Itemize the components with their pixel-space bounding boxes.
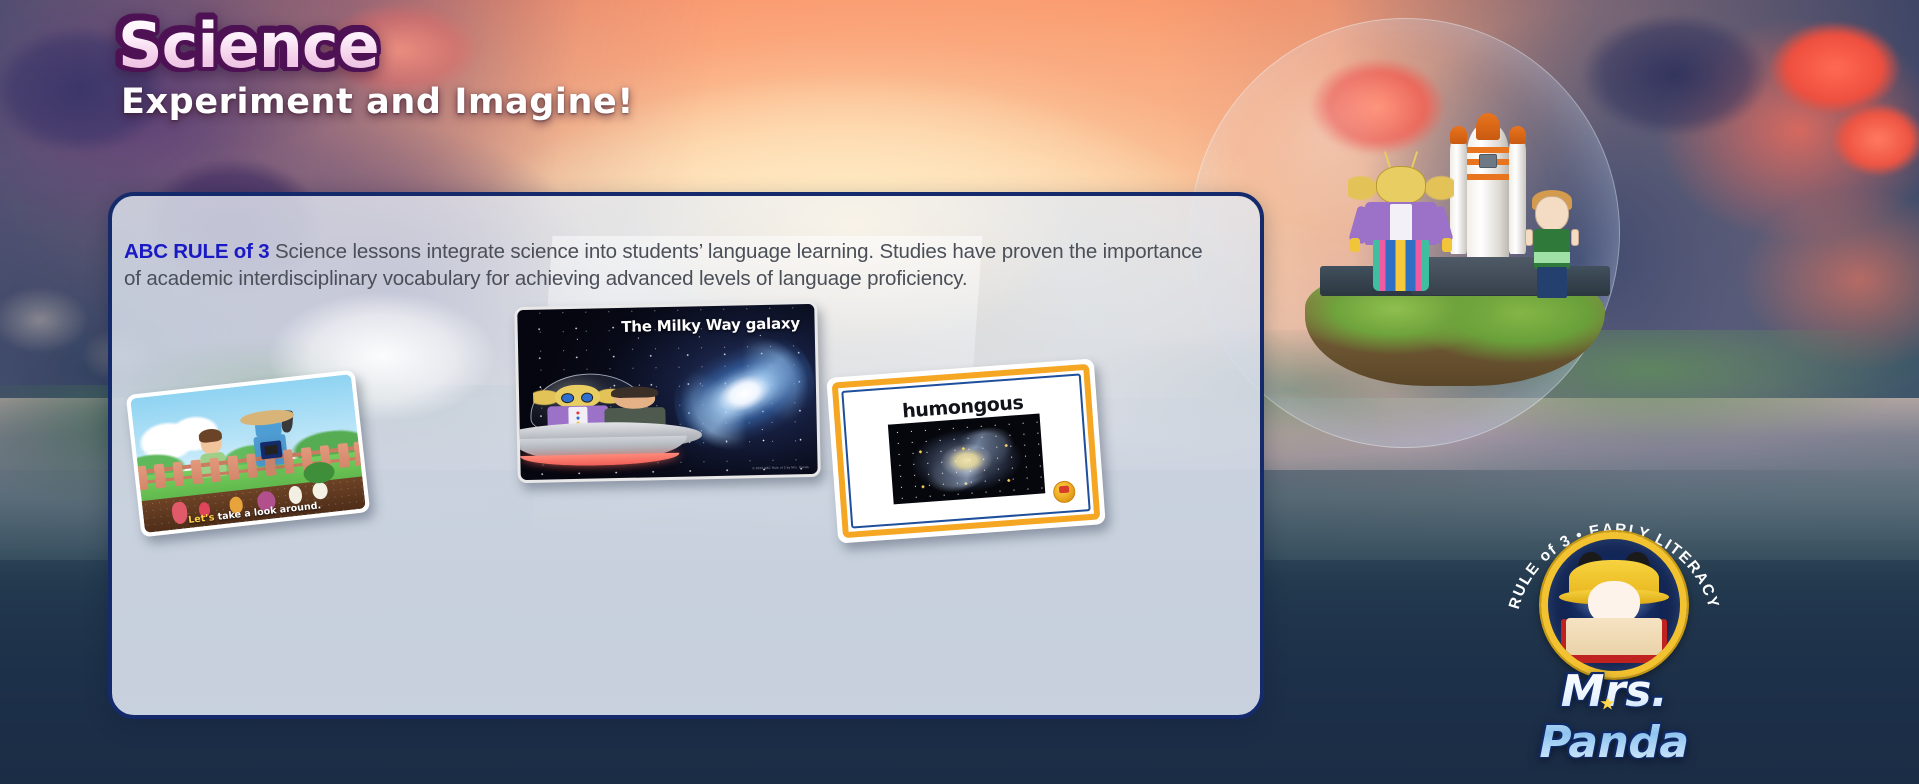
flying-saucer-icon [517,371,699,470]
card-gallery: Let’s take a look around. The Milky Way … [112,196,1260,715]
vocabulary-flashcard[interactable]: humongous [826,358,1105,543]
publisher-logo-icon [1053,480,1077,504]
header-titles: Science Experiment and Imagine! [118,14,634,122]
alien-character [1362,166,1440,294]
milky-way-lesson-card[interactable]: The Milky Way galaxy [514,301,821,483]
logo-medallion [1541,532,1687,678]
page-subtitle: Experiment and Imagine! [121,82,634,122]
boy-character [1524,196,1580,300]
space-shuttle-icon [1445,116,1531,288]
garden-lesson-card[interactable]: Let’s take a look around. [126,370,371,538]
poster-canvas: Science Experiment and Imagine! ABC RULE… [0,0,1919,784]
page-title: Science [118,14,634,78]
book-pages-icon [1566,618,1661,663]
mrs-panda-logo[interactable]: RULE of 3 • EARLY LITERACY Mrs. Panda [1496,500,1732,736]
content-panel: ABC RULE of 3 Science lessons integrate … [108,192,1264,719]
galaxy-photo [888,413,1045,504]
logo-wordmark: Mrs. Panda [1496,666,1732,768]
